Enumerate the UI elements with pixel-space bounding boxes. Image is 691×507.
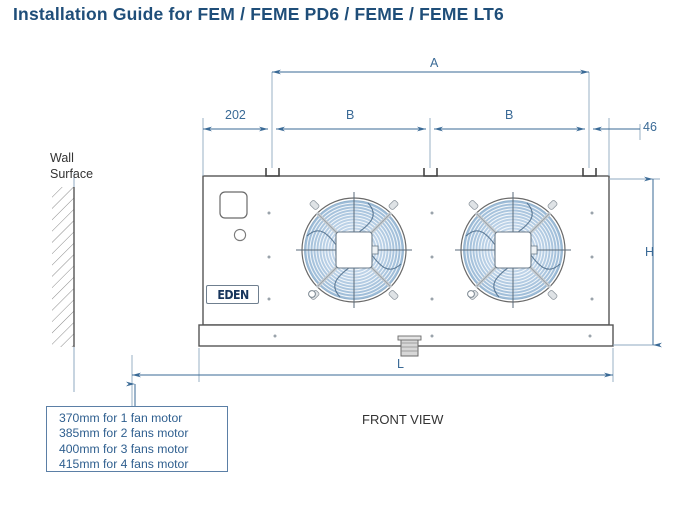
dim-label-h: H — [645, 245, 654, 259]
wall-surface-group — [52, 173, 74, 392]
length-dimension-group — [132, 348, 613, 410]
control-knob — [234, 229, 245, 240]
mounting-bracket-right — [583, 168, 596, 176]
front-view-label: FRONT VIEW — [362, 412, 443, 427]
note-line-4: 415mm for 4 fans motor — [59, 457, 227, 472]
drain-pipe — [398, 336, 421, 356]
mounting-bracket-left — [266, 168, 279, 176]
dim-label-46: 46 — [643, 120, 657, 134]
electrical-box — [220, 192, 247, 218]
note-line-1: 370mm for 1 fan motor — [59, 411, 227, 426]
eden-logo: EDEN — [206, 285, 259, 304]
dim-label-202: 202 — [225, 108, 246, 122]
top-dimension-group — [203, 72, 640, 176]
fan-motor-clearance-note: 370mm for 1 fan motor 385mm for 2 fans m… — [46, 406, 228, 472]
dim-label-b-left: B — [346, 108, 354, 122]
mounting-bracket-center — [424, 168, 437, 176]
wall-hatch — [52, 187, 74, 347]
dim-label-a: A — [430, 56, 438, 70]
unit-body-group — [199, 168, 613, 356]
eden-logo-text: EDEN — [217, 288, 248, 302]
mounting-brackets — [266, 168, 596, 176]
wall-label-line-1: Wall — [50, 150, 93, 166]
height-dimension-group — [609, 179, 660, 345]
dim-label-b-right: B — [505, 108, 513, 122]
note-line-2: 385mm for 2 fans motor — [59, 426, 227, 441]
note-line-3: 400mm for 3 fans motor — [59, 442, 227, 457]
wall-surface-label: Wall Surface — [50, 150, 93, 182]
wall-label-line-2: Surface — [50, 166, 93, 182]
dim-label-l: L — [397, 357, 404, 371]
